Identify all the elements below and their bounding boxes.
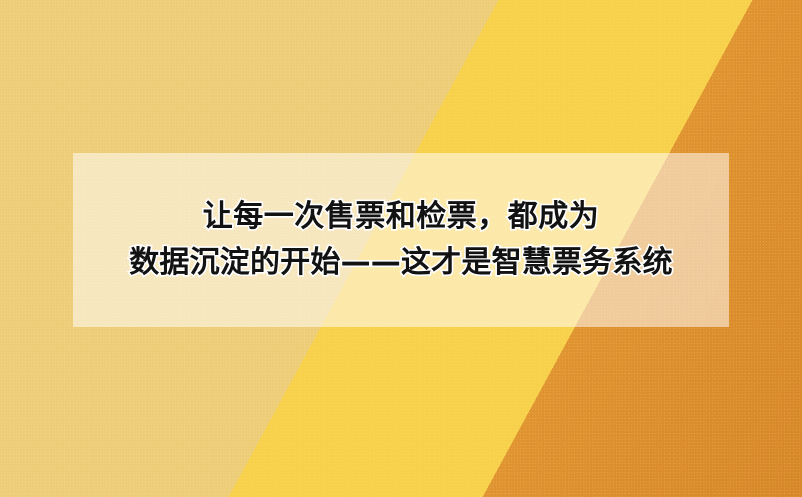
caption-text-block: 让每一次售票和检票，都成为 数据沉淀的开始——这才是智慧票务系统 bbox=[73, 153, 729, 327]
caption-line-1: 让每一次售票和检票，都成为 bbox=[203, 200, 600, 234]
caption-line-2: 数据沉淀的开始——这才是智慧票务系统 bbox=[129, 246, 673, 280]
banner-image: 让每一次售票和检票，都成为 数据沉淀的开始——这才是智慧票务系统 bbox=[0, 0, 802, 497]
